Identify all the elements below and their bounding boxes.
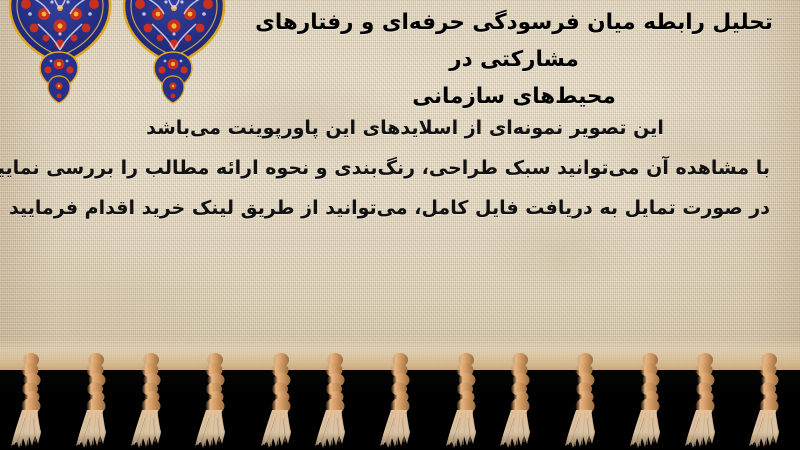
carpet-fringe [0, 340, 800, 450]
slide-title-line-1: تحلیل رابطه میان فرسودگی حرفه‌ای و رفتار… [236, 4, 792, 78]
slide-body-line-1: این تصویر نمونه‌ای از اسلایدهای این پاور… [40, 108, 770, 148]
fringe-tassel [8, 350, 54, 450]
persian-drop-icon [160, 74, 186, 104]
fringe-tassel [562, 350, 608, 450]
ornament-group [0, 0, 260, 100]
slide-body: این تصویر نمونه‌ای از اسلایدهای این پاور… [40, 108, 770, 228]
fringe-tassel [500, 350, 546, 450]
fringe-tassel [623, 350, 669, 450]
fringe-tassel [377, 350, 423, 450]
fringe-tassel [439, 350, 485, 450]
fringe-tassel [685, 350, 731, 450]
fringe-tassel [69, 350, 115, 450]
fringe-tassel [131, 350, 177, 450]
fringe-tassel [192, 350, 238, 450]
slide-title: تحلیل رابطه میان فرسودگی حرفه‌ای و رفتار… [236, 4, 792, 115]
persian-drop-icon [46, 74, 72, 104]
slide-body-line-2: با مشاهده آن می‌توانید سبک طراحی، رنگ‌بن… [40, 148, 770, 188]
fringe-tassel [746, 350, 792, 450]
slide-body-line-3: در صورت تمایل به دریافت فایل کامل، می‌تو… [40, 188, 770, 228]
slide-canvas: تحلیل رابطه میان فرسودگی حرفه‌ای و رفتار… [0, 0, 800, 450]
fringe-tassel [315, 350, 361, 450]
fringe-tassel [254, 350, 300, 450]
